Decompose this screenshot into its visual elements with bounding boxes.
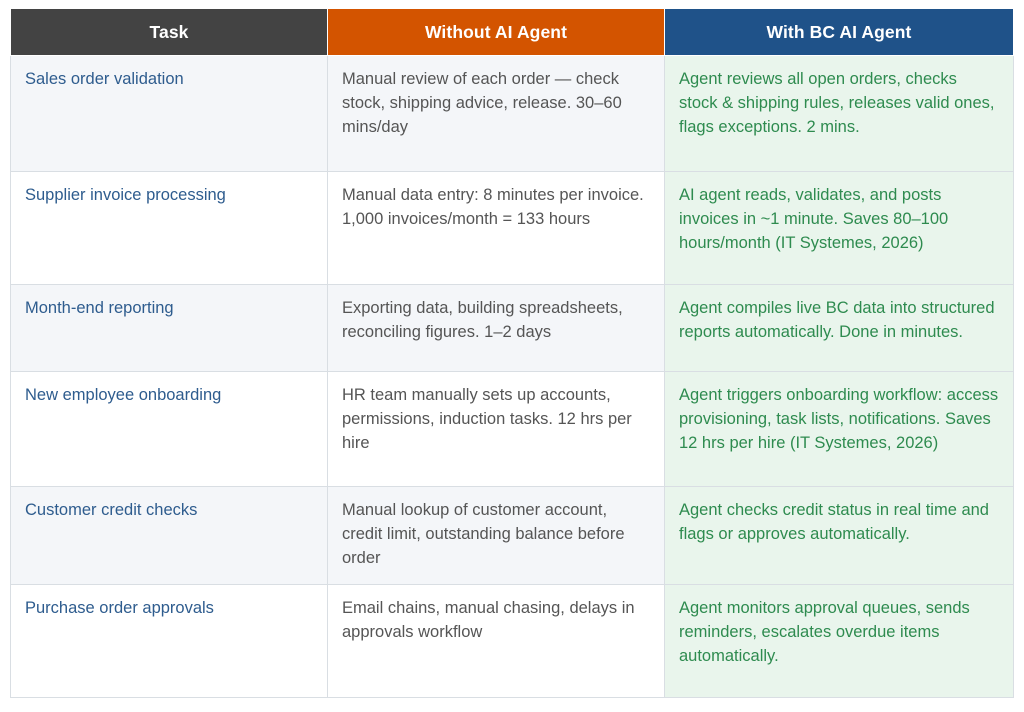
cell-without-ai-agent: Manual review of each order — check stoc… (328, 56, 665, 172)
cell-with-bc-ai-agent: Agent monitors approval queues, sends re… (665, 585, 1014, 698)
column-header-with-bc-ai-agent: With BC AI Agent (665, 9, 1014, 56)
table-row: Sales order validation Manual review of … (11, 56, 1014, 172)
cell-task: Supplier invoice processing (11, 172, 328, 285)
table-row: Purchase order approvals Email chains, m… (11, 585, 1014, 698)
cell-task: Month-end reporting (11, 285, 328, 372)
table-header-row: Task Without AI Agent With BC AI Agent (11, 9, 1014, 56)
ai-agent-comparison-table: Task Without AI Agent With BC AI Agent S… (10, 8, 1014, 698)
cell-without-ai-agent: Exporting data, building spreadsheets, r… (328, 285, 665, 372)
cell-without-ai-agent: HR team manually sets up accounts, permi… (328, 372, 665, 487)
column-header-task: Task (11, 9, 328, 56)
cell-task: Purchase order approvals (11, 585, 328, 698)
cell-with-bc-ai-agent: Agent triggers onboarding workflow: acce… (665, 372, 1014, 487)
cell-with-bc-ai-agent: Agent compiles live BC data into structu… (665, 285, 1014, 372)
table-body: Sales order validation Manual review of … (11, 56, 1014, 698)
table-row: Customer credit checks Manual lookup of … (11, 487, 1014, 585)
column-header-without-ai-agent: Without AI Agent (328, 9, 665, 56)
cell-task: New employee onboarding (11, 372, 328, 487)
comparison-table-container: Task Without AI Agent With BC AI Agent S… (10, 8, 1013, 698)
table-row: New employee onboarding HR team manually… (11, 372, 1014, 487)
cell-task: Customer credit checks (11, 487, 328, 585)
cell-with-bc-ai-agent: Agent reviews all open orders, checks st… (665, 56, 1014, 172)
cell-task: Sales order validation (11, 56, 328, 172)
cell-with-bc-ai-agent: AI agent reads, validates, and posts inv… (665, 172, 1014, 285)
cell-without-ai-agent: Email chains, manual chasing, delays in … (328, 585, 665, 698)
table-header: Task Without AI Agent With BC AI Agent (11, 9, 1014, 56)
cell-without-ai-agent: Manual lookup of customer account, credi… (328, 487, 665, 585)
cell-with-bc-ai-agent: Agent checks credit status in real time … (665, 487, 1014, 585)
cell-without-ai-agent: Manual data entry: 8 minutes per invoice… (328, 172, 665, 285)
table-row: Month-end reporting Exporting data, buil… (11, 285, 1014, 372)
table-row: Supplier invoice processing Manual data … (11, 172, 1014, 285)
